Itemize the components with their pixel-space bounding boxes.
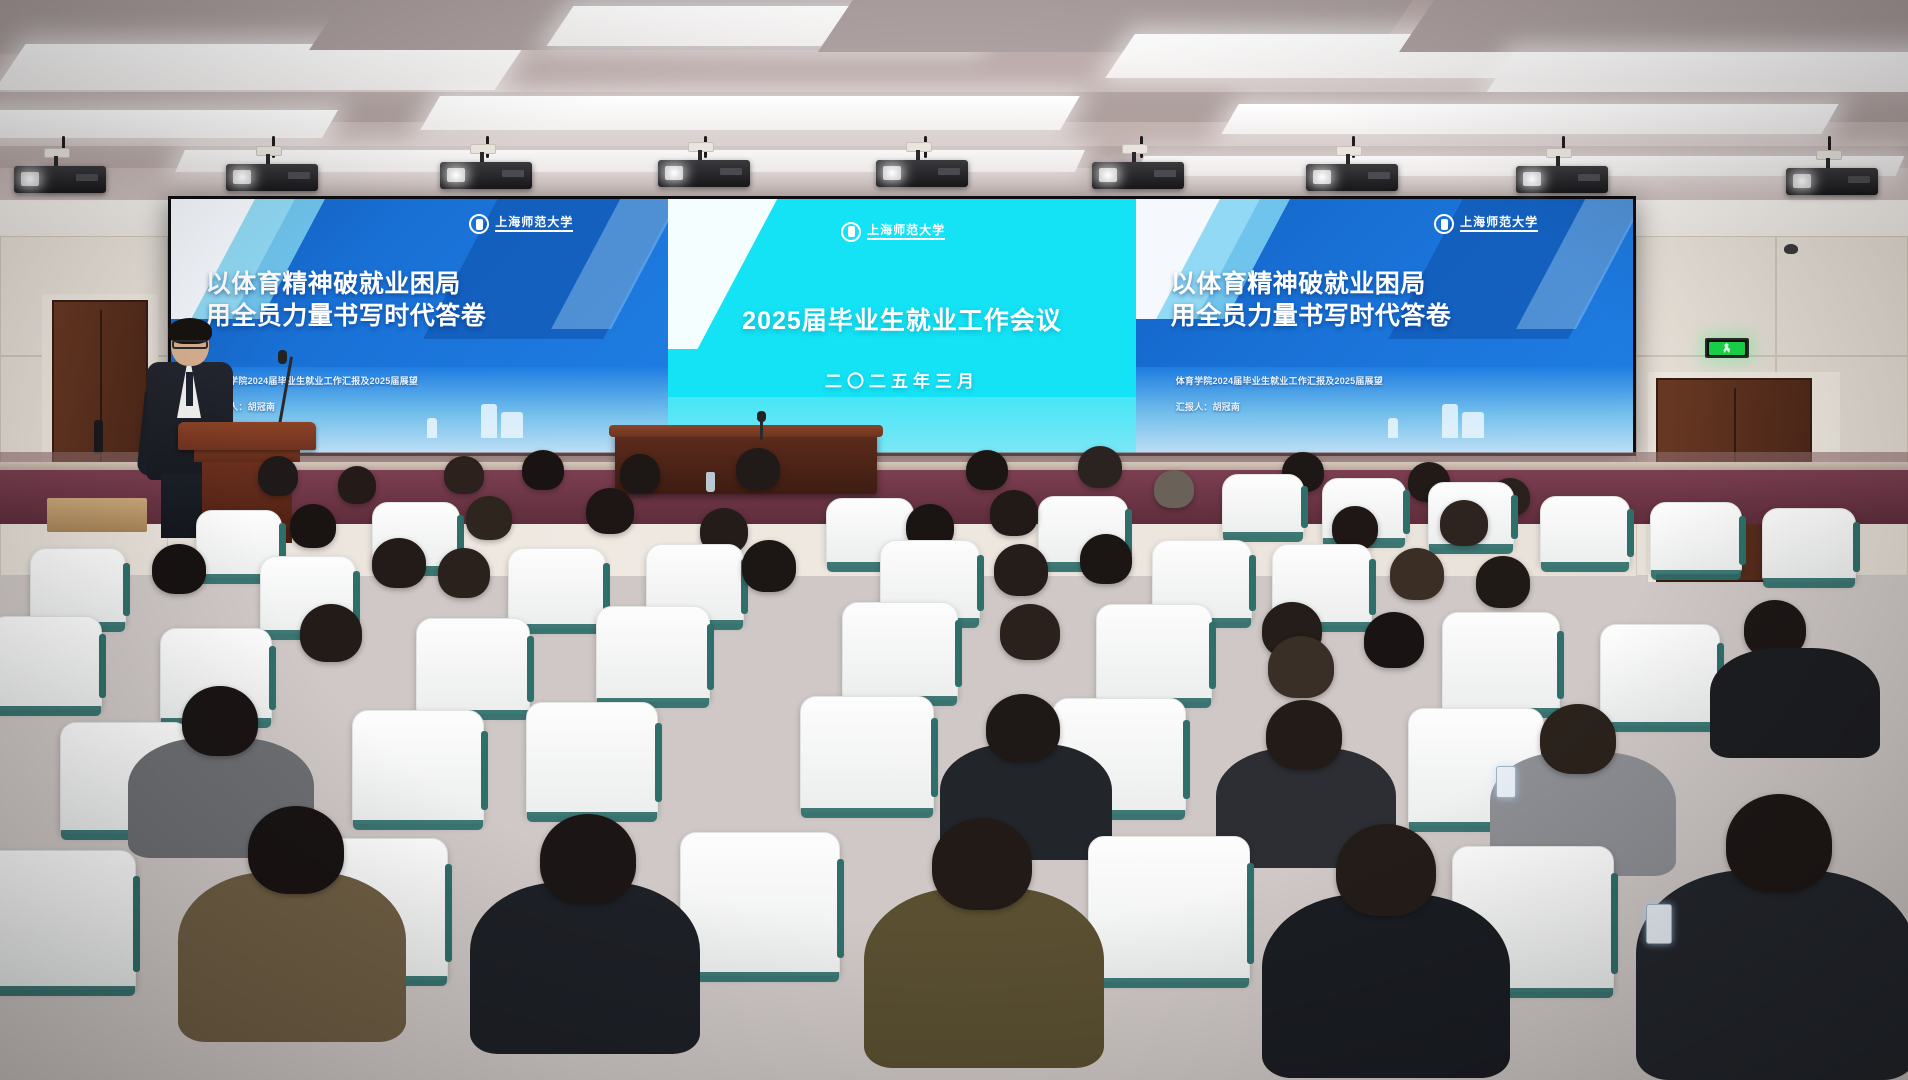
audience-head [182, 686, 258, 756]
university-emblem-icon [841, 222, 861, 242]
audience-head [522, 450, 564, 490]
door-handle-left[interactable] [94, 420, 103, 454]
eyeglasses-icon [172, 340, 208, 349]
stage-light-5 [876, 150, 968, 190]
seat[interactable] [30, 548, 126, 626]
seat[interactable] [1442, 612, 1560, 712]
stage-light-row [0, 140, 1908, 202]
audience-head [540, 814, 636, 904]
seat[interactable] [352, 710, 484, 824]
security-camera-icon [1784, 244, 1798, 254]
exit-sign-glow [1709, 342, 1745, 355]
right-panel-headline: 以体育精神破就业困局 用全员力量书写时代答卷 [1171, 268, 1452, 332]
center-panel-title: 2025届毕业生就业工作会议 [668, 301, 1136, 337]
audience-head [1080, 534, 1132, 584]
left-panel-subtitle: 体育学院2024届毕业生就业工作汇报及2025届展望 [211, 374, 418, 387]
light-lens-icon [233, 170, 251, 184]
led-panel-left: 上海师范大学 以体育精神破就业困局 用全员力量书写时代答卷 体育学院2024届毕… [171, 199, 668, 453]
audience-head [1000, 604, 1060, 660]
stage-light-1 [14, 156, 106, 196]
right-panel-logo: 上海师范大学 [1434, 214, 1538, 234]
center-panel-logo-name: 上海师范大学 [867, 224, 945, 240]
seat[interactable] [1600, 624, 1720, 726]
audience-head [1336, 824, 1436, 916]
seat[interactable] [1222, 474, 1304, 536]
audience-shoulders [1262, 894, 1510, 1078]
audience-head [586, 488, 634, 534]
seat[interactable] [800, 696, 934, 812]
right-panel-presenter: 汇报人：胡冠南 [1176, 400, 1240, 413]
light-lens-icon [1099, 168, 1117, 182]
audience-head [1476, 556, 1530, 608]
audience-head [736, 448, 780, 490]
seat[interactable] [1650, 502, 1742, 574]
audience-head [986, 694, 1060, 762]
led-video-wall: 上海师范大学 以体育精神破就业困局 用全员力量书写时代答卷 体育学院2024届毕… [168, 196, 1636, 456]
center-panel-date: 二〇二五年三月 [668, 367, 1136, 392]
audience-shoulders [470, 882, 700, 1054]
seat[interactable] [526, 702, 658, 816]
audience-head [466, 496, 512, 540]
exit-sign [1705, 338, 1749, 358]
seat[interactable] [680, 832, 840, 976]
left-panel-headline: 以体育精神破就业困局 用全员力量书写时代答卷 [206, 268, 487, 332]
stage-light-8 [1516, 156, 1608, 196]
exit-runner-icon [1723, 343, 1732, 353]
left-panel-headline-line2: 用全员力量书写时代答卷 [206, 300, 487, 332]
audience-head [152, 544, 206, 594]
audience-head [248, 806, 344, 894]
audience-head [438, 548, 490, 598]
left-panel-logo: 上海师范大学 [469, 214, 573, 234]
audience-head [966, 450, 1008, 490]
audience-head [372, 538, 426, 588]
seat[interactable] [416, 618, 530, 714]
audience-head [620, 454, 660, 494]
stage-light-6 [1092, 152, 1184, 192]
light-lens-icon [665, 166, 683, 180]
light-lens-icon [1523, 172, 1541, 186]
audience-shoulders [1710, 648, 1880, 758]
right-panel-subtitle: 体育学院2024届毕业生就业工作汇报及2025届展望 [1176, 374, 1383, 387]
light-lens-icon [1313, 170, 1331, 184]
audience-head [258, 456, 298, 496]
table-microphone-icon [760, 418, 763, 440]
auditorium-photo: 上海师范大学 以体育精神破就业困局 用全员力量书写时代答卷 体育学院2024届毕… [0, 0, 1908, 1080]
audience-head [1440, 500, 1488, 546]
audience-head [990, 490, 1038, 536]
audience-head [1266, 700, 1342, 770]
stage-light-2 [226, 154, 318, 194]
stage-light-3 [440, 152, 532, 192]
audience-head [1268, 636, 1334, 698]
university-emblem-icon [469, 214, 489, 234]
audience-head [338, 466, 376, 504]
smartphone[interactable] [1496, 766, 1516, 798]
stage-light-4 [658, 150, 750, 190]
audience-seating [0, 452, 1908, 1080]
audience-head [932, 818, 1032, 910]
seat[interactable] [1088, 836, 1250, 982]
seat[interactable] [842, 602, 958, 700]
light-lens-icon [1793, 174, 1811, 188]
seat[interactable] [1540, 496, 1630, 566]
light-lens-icon [883, 166, 901, 180]
seat[interactable] [0, 616, 102, 710]
right-panel-headline-line2: 用全员力量书写时代答卷 [1171, 300, 1452, 332]
left-panel-headline-line1: 以体育精神破就业困局 [206, 268, 487, 300]
audience-head [1726, 794, 1832, 892]
left-panel-logo-name: 上海师范大学 [495, 216, 573, 232]
right-panel-logo-name: 上海师范大学 [1460, 216, 1538, 232]
audience-shoulders [864, 888, 1104, 1068]
audience-head [300, 604, 362, 662]
seat[interactable] [0, 850, 136, 990]
audience-head [1154, 470, 1194, 508]
audience-head [444, 456, 484, 494]
audience-head [1540, 704, 1616, 774]
podium-microphone-icon [278, 350, 287, 364]
audience-head [742, 540, 796, 592]
led-panel-right: 上海师范大学 以体育精神破就业困局 用全员力量书写时代答卷 体育学院2024届毕… [1136, 199, 1633, 453]
audience-head [1364, 612, 1424, 668]
stage-light-7 [1306, 154, 1398, 194]
audience-shoulders [178, 872, 406, 1042]
audience-head [1078, 446, 1122, 488]
smartphone[interactable] [1646, 904, 1672, 944]
center-panel-logo: 上海师范大学 [841, 222, 945, 242]
seat[interactable] [508, 548, 606, 628]
right-panel-headline-line1: 以体育精神破就业困局 [1171, 268, 1452, 300]
light-lens-icon [21, 172, 39, 186]
audience-head [994, 544, 1048, 596]
audience-head [1390, 548, 1444, 600]
seat[interactable] [1762, 508, 1856, 582]
university-emblem-icon [1434, 214, 1454, 234]
light-lens-icon [447, 168, 465, 182]
led-panel-center: 上海师范大学 2025届毕业生就业工作会议 二〇二五年三月 [668, 199, 1136, 453]
stage-light-9 [1786, 158, 1878, 198]
audience-shoulders [1636, 870, 1908, 1080]
seat[interactable] [1096, 604, 1212, 702]
audience-head [290, 504, 336, 548]
seat[interactable] [596, 606, 710, 702]
